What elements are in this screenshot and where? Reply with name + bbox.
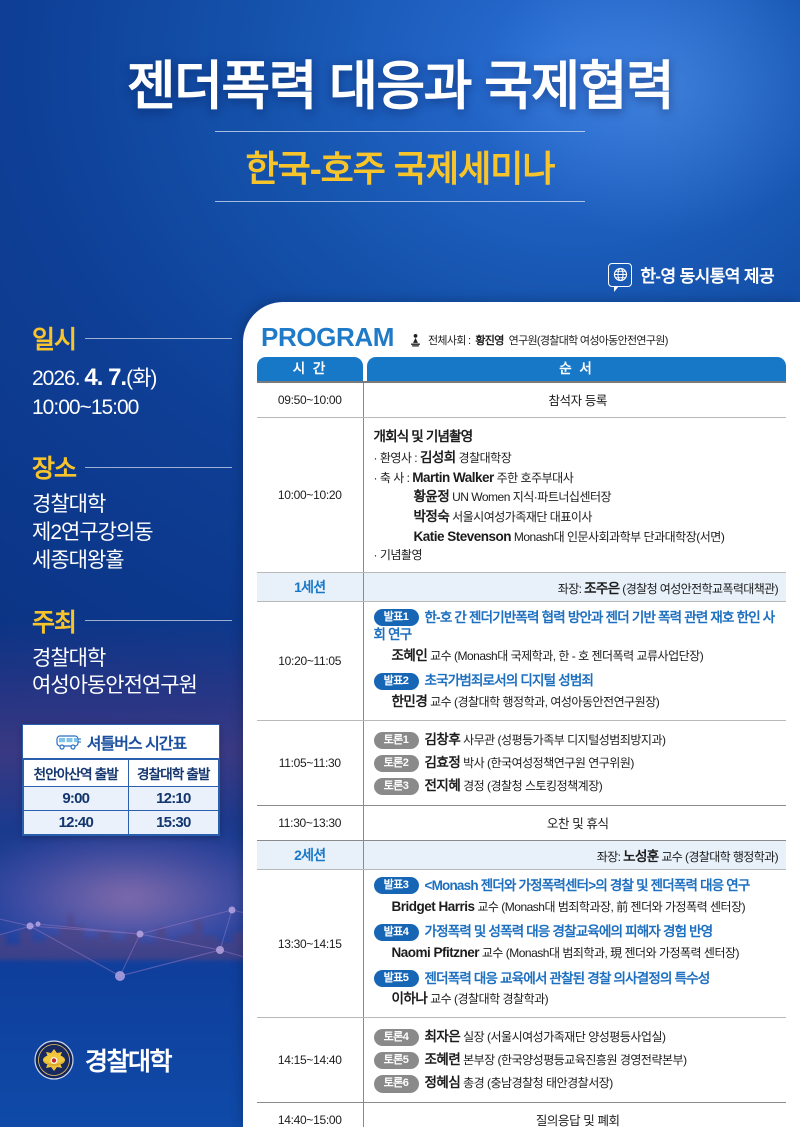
moderator-line: 전체사회 : 황진영 연구원(경찰대학 여성아동안전연구원) bbox=[408, 332, 668, 350]
opening-photo: · 기념촬영 bbox=[374, 547, 783, 565]
opening-congrats-4: Katie Stevenson Monash대 인문사회과학부 단과대학장(서면… bbox=[374, 527, 783, 547]
poster-root: 젠더폭력 대응과 국제협력 한국-호주 국제세미나 한-영 동시통역 제공 일시 bbox=[0, 0, 800, 1127]
interpretation-badge: 한-영 동시통역 제공 bbox=[608, 262, 774, 287]
info-venue-label: 장소 bbox=[32, 449, 76, 485]
shuttle-cell: 15:30 bbox=[128, 811, 218, 835]
talk-title: <Monash 젠더와 가정폭력센터>의 경찰 및 젠더폭력 대응 연구 bbox=[425, 878, 750, 893]
talk-title: 젠더폭력 대응 교육에서 관찰된 경찰 의사결정의 특수성 bbox=[425, 971, 710, 986]
program-table: 시 간 순 서 09:50~10:00 참석자 등록 10:00~10:20 개… bbox=[257, 357, 786, 1127]
talk-heading: 발표3<Monash 젠더와 가정폭력센터>의 경찰 및 젠더폭력 대응 연구 bbox=[374, 877, 783, 894]
venue-line: 경찰대학 bbox=[32, 491, 232, 519]
table-row: 13:30~14:15 발표3<Monash 젠더와 가정폭력센터>의 경찰 및… bbox=[257, 870, 786, 1017]
talk-badge: 발표3 bbox=[374, 877, 419, 894]
page-subtitle: 한국-호주 국제세미나 bbox=[215, 132, 585, 201]
bus-icon bbox=[56, 735, 82, 750]
discussion-entry: 토론6정혜심 총경 (충남경찰청 태안경찰서장) bbox=[374, 1071, 783, 1094]
program-table-header: 시 간 순 서 bbox=[257, 357, 786, 381]
column-header-order-label: 순 서 bbox=[367, 357, 786, 381]
talk-badge: 발표2 bbox=[374, 673, 419, 690]
opening-welcome: · 환영사 : 김성희 경찰대학장 bbox=[374, 448, 783, 468]
event-time: 10:00~15:00 bbox=[32, 394, 232, 422]
row-time: 14:40~15:00 bbox=[257, 1103, 363, 1127]
brand-block: 경찰대학 bbox=[34, 1040, 171, 1080]
row-time: 10:00~10:20 bbox=[257, 418, 363, 573]
info-group-date: 일시 2026. 4. 7.(화) 10:00~15:00 bbox=[32, 320, 232, 421]
discussion-entry: 토론4최자은 실장 (서울시여성가족재단 양성평등사업실) bbox=[374, 1025, 783, 1048]
talk-speaker: 이하나 교수 (경찰대학 경찰학과) bbox=[374, 990, 783, 1009]
talk-heading: 발표4가정폭력 및 성폭력 대응 경찰교육에의 피해자 경험 반영 bbox=[374, 923, 783, 940]
opening-congrats-1: · 축 사 : Martin Walker 주한 호주부대사 bbox=[374, 468, 783, 488]
discussion-entry: 토론5조혜련 본부장 (한국양성평등교육진흥원 경영전략본부) bbox=[374, 1048, 783, 1071]
table-row: 09:50~10:00 참석자 등록 bbox=[257, 383, 786, 418]
brand-name: 경찰대학 bbox=[85, 1042, 171, 1078]
title-block: 젠더폭력 대응과 국제협력 한국-호주 국제세미나 bbox=[0, 58, 800, 202]
info-date-body: 2026. 4. 7.(화) 10:00~15:00 bbox=[32, 362, 232, 421]
shuttle-row: 12:40 15:30 bbox=[24, 811, 219, 835]
page-title: 젠더폭력 대응과 국제협력 bbox=[0, 58, 800, 115]
moderator-name: 황진영 bbox=[475, 332, 503, 348]
info-date-header: 일시 bbox=[32, 320, 232, 356]
talk-heading: 발표1한-호 간 젠더기반폭력 협력 방안과 젠더 기반 폭력 관련 재호 한인… bbox=[374, 609, 783, 644]
table-row: 14:40~15:00 질의응답 및 폐회 bbox=[257, 1103, 786, 1127]
interpretation-label: 한-영 동시통역 제공 bbox=[640, 262, 774, 287]
discussion-badge: 토론6 bbox=[374, 1075, 419, 1092]
table-row: 10:00~10:20 개회식 및 기념촬영 · 환영사 : 김성희 경찰대학장… bbox=[257, 418, 786, 573]
program-panel: PROGRAM 전체사회 : 황진영 연구원(경찰대학 여성아동안전연구원) 시 bbox=[243, 302, 800, 1127]
host-line: 여성아동안전연구원 bbox=[32, 672, 232, 700]
talk-heading: 발표5젠더폭력 대응 교육에서 관찰된 경찰 의사결정의 특수성 bbox=[374, 970, 783, 987]
venue-line: 세종대왕홀 bbox=[32, 547, 232, 575]
row-time: 09:50~10:00 bbox=[257, 383, 363, 418]
talk-speaker: 한민경 교수 (경찰대학 행정학과, 여성아동안전연구원장) bbox=[374, 693, 783, 712]
talk-speaker: Bridget Harris 교수 (Monash대 범죄학과장, 前 젠더와 … bbox=[374, 898, 783, 917]
row-time: 10:20~11:05 bbox=[257, 602, 363, 721]
discussion-badge: 토론2 bbox=[374, 755, 419, 772]
row-content: 발표3<Monash 젠더와 가정폭력센터>의 경찰 및 젠더폭력 대응 연구 … bbox=[363, 870, 786, 1017]
info-host-header: 주최 bbox=[32, 603, 232, 639]
session-1-chair: 좌장: 조주은 (경찰청 여성안전학교폭력대책관) bbox=[363, 573, 786, 602]
opening-congrats-3: 박정숙 서울시여성가족재단 대표이사 bbox=[374, 507, 783, 527]
row-content: 토론4최자은 실장 (서울시여성가족재단 양성평등사업실) 토론5조혜련 본부장… bbox=[363, 1017, 786, 1103]
column-header-time: 시 간 bbox=[257, 357, 363, 381]
host-line: 경찰대학 bbox=[32, 645, 232, 673]
info-host-label: 주최 bbox=[32, 603, 76, 639]
session-2-chair: 좌장: 노성훈 교수 (경찰대학 행정학과) bbox=[363, 841, 786, 870]
info-group-venue: 장소 경찰대학 제2연구강의동 세종대왕홀 bbox=[32, 449, 232, 574]
talk-entry: 발표4가정폭력 및 성폭력 대응 경찰교육에의 피해자 경험 반영 Naomi … bbox=[374, 923, 783, 962]
row-content: 토론1김창후 사무관 (성평등가족부 디지털성범죄방지과) 토론2김효정 박사 … bbox=[363, 720, 786, 806]
table-row: 11:05~11:30 토론1김창후 사무관 (성평등가족부 디지털성범죄방지과… bbox=[257, 720, 786, 806]
info-host-body: 경찰대학 여성아동안전연구원 bbox=[32, 645, 232, 700]
shuttle-title-text: 셔틀버스 시간표 bbox=[87, 730, 187, 754]
shuttle-cell: 9:00 bbox=[24, 787, 129, 811]
talk-badge: 발표5 bbox=[374, 970, 419, 987]
moderator-prefix: 전체사회 : bbox=[428, 332, 470, 348]
shuttle-cell: 12:10 bbox=[128, 787, 218, 811]
talk-entry: 발표5젠더폭력 대응 교육에서 관찰된 경찰 의사결정의 특수성 이하나 교수 … bbox=[374, 970, 783, 1009]
session-header-row: 2세션 좌장: 노성훈 교수 (경찰대학 행정학과) bbox=[257, 841, 786, 870]
row-time: 11:30~13:30 bbox=[257, 806, 363, 841]
podium-icon bbox=[408, 333, 423, 348]
divider-line bbox=[85, 467, 232, 468]
row-time: 14:15~14:40 bbox=[257, 1017, 363, 1103]
divider-line bbox=[85, 338, 232, 339]
row-content: 질의응답 및 폐회 bbox=[363, 1103, 786, 1127]
shuttle-col-header: 천안아산역 출발 bbox=[24, 760, 129, 787]
shuttle-cell: 12:40 bbox=[24, 811, 129, 835]
discussion-badge: 토론5 bbox=[374, 1052, 419, 1069]
column-header-order: 순 서 bbox=[363, 357, 786, 381]
shuttle-title-bar: 셔틀버스 시간표 bbox=[23, 725, 219, 759]
talk-badge: 발표4 bbox=[374, 924, 419, 941]
moderator-affiliation: 연구원(경찰대학 여성아동안전연구원) bbox=[509, 332, 668, 348]
divider-line bbox=[85, 620, 232, 621]
talk-title: 초국가범죄로서의 디지털 성범죄 bbox=[425, 673, 594, 688]
talk-entry: 발표3<Monash 젠더와 가정폭력센터>의 경찰 및 젠더폭력 대응 연구 … bbox=[374, 877, 783, 916]
table-row: 14:15~14:40 토론4최자은 실장 (서울시여성가족재단 양성평등사업실… bbox=[257, 1017, 786, 1103]
column-header-time-label: 시 간 bbox=[257, 357, 363, 381]
globe-icon bbox=[608, 263, 632, 287]
shuttle-bus-schedule: 셔틀버스 시간표 천안아산역 출발 경찰대학 출발 9:00 12:10 12:… bbox=[22, 724, 220, 836]
table-row: 11:30~13:30 오찬 및 휴식 bbox=[257, 806, 786, 841]
shuttle-row: 9:00 12:10 bbox=[24, 787, 219, 811]
table-row: 10:20~11:05 발표1한-호 간 젠더기반폭력 협력 방안과 젠더 기반… bbox=[257, 602, 786, 721]
info-group-host: 주최 경찰대학 여성아동안전연구원 bbox=[32, 603, 232, 700]
row-content: 참석자 등록 bbox=[363, 383, 786, 418]
discussion-entry: 토론2김효정 박사 (한국여성정책연구원 연구위원) bbox=[374, 751, 783, 774]
discussion-badge: 토론3 bbox=[374, 778, 419, 795]
discussion-entry: 토론3전지혜 경정 (경찰청 스토킹정책계장) bbox=[374, 774, 783, 797]
event-info-sidebar: 일시 2026. 4. 7.(화) 10:00~15:00 장소 경찰대학 제2… bbox=[32, 320, 232, 728]
row-time: 11:05~11:30 bbox=[257, 720, 363, 806]
talk-heading: 발표2초국가범죄로서의 디지털 성범죄 bbox=[374, 672, 783, 689]
talk-title: 가정폭력 및 성폭력 대응 경찰교육에의 피해자 경험 반영 bbox=[425, 924, 713, 939]
opening-title: 개회식 및 기념촬영 bbox=[374, 425, 783, 445]
shuttle-col-header: 경찰대학 출발 bbox=[128, 760, 218, 787]
talk-title: 한-호 간 젠더기반폭력 협력 방안과 젠더 기반 폭력 관련 재호 한인 사회… bbox=[374, 610, 775, 642]
venue-line: 제2연구강의동 bbox=[32, 519, 232, 547]
talk-speaker: Naomi Pfitzner 교수 (Monash대 범죄학과, 現 젠더와 가… bbox=[374, 944, 783, 963]
talk-entry: 발표2초국가범죄로서의 디지털 성범죄 한민경 교수 (경찰대학 행정학과, 여… bbox=[374, 672, 783, 711]
talk-speaker: 조혜인 교수 (Monash대 국제학과, 한 - 호 젠더폭력 교류사업단장) bbox=[374, 647, 783, 666]
info-venue-header: 장소 bbox=[32, 449, 232, 485]
rule-bottom bbox=[215, 201, 585, 202]
event-date: 2026. 4. 7.(화) bbox=[32, 362, 232, 394]
discussion-badge: 토론4 bbox=[374, 1029, 419, 1046]
talk-entry: 발표1한-호 간 젠더기반폭력 협력 방안과 젠더 기반 폭력 관련 재호 한인… bbox=[374, 609, 783, 665]
session-1-name: 1세션 bbox=[257, 573, 363, 602]
event-date-bold: 4. 7. bbox=[84, 364, 126, 391]
shuttle-table: 천안아산역 출발 경찰대학 출발 9:00 12:10 12:40 15:30 bbox=[23, 759, 219, 835]
discussion-entry: 토론1김창후 사무관 (성평등가족부 디지털성범죄방지과) bbox=[374, 728, 783, 751]
talk-badge: 발표1 bbox=[374, 609, 419, 626]
row-content: 개회식 및 기념촬영 · 환영사 : 김성희 경찰대학장 · 축 사 : Mar… bbox=[363, 418, 786, 573]
session-2-name: 2세션 bbox=[257, 841, 363, 870]
opening-congrats-2: 황윤정 UN Women 지식·파트너십센터장 bbox=[374, 487, 783, 507]
session-header-row: 1세션 좌장: 조주은 (경찰청 여성안전학교폭력대책관) bbox=[257, 573, 786, 602]
subtitle-rules: 한국-호주 국제세미나 bbox=[215, 131, 585, 202]
discussion-badge: 토론1 bbox=[374, 732, 419, 749]
row-content: 발표1한-호 간 젠더기반폭력 협력 방안과 젠더 기반 폭력 관련 재호 한인… bbox=[363, 602, 786, 721]
row-content: 오찬 및 휴식 bbox=[363, 806, 786, 841]
row-time: 13:30~14:15 bbox=[257, 870, 363, 1017]
program-title: PROGRAM bbox=[261, 324, 394, 350]
program-header: PROGRAM 전체사회 : 황진영 연구원(경찰대학 여성아동안전연구원) bbox=[257, 324, 786, 357]
shuttle-header-row: 천안아산역 출발 경찰대학 출발 bbox=[24, 760, 219, 787]
info-date-label: 일시 bbox=[32, 320, 76, 356]
police-emblem-icon bbox=[34, 1040, 74, 1080]
info-venue-body: 경찰대학 제2연구강의동 세종대왕홀 bbox=[32, 491, 232, 574]
